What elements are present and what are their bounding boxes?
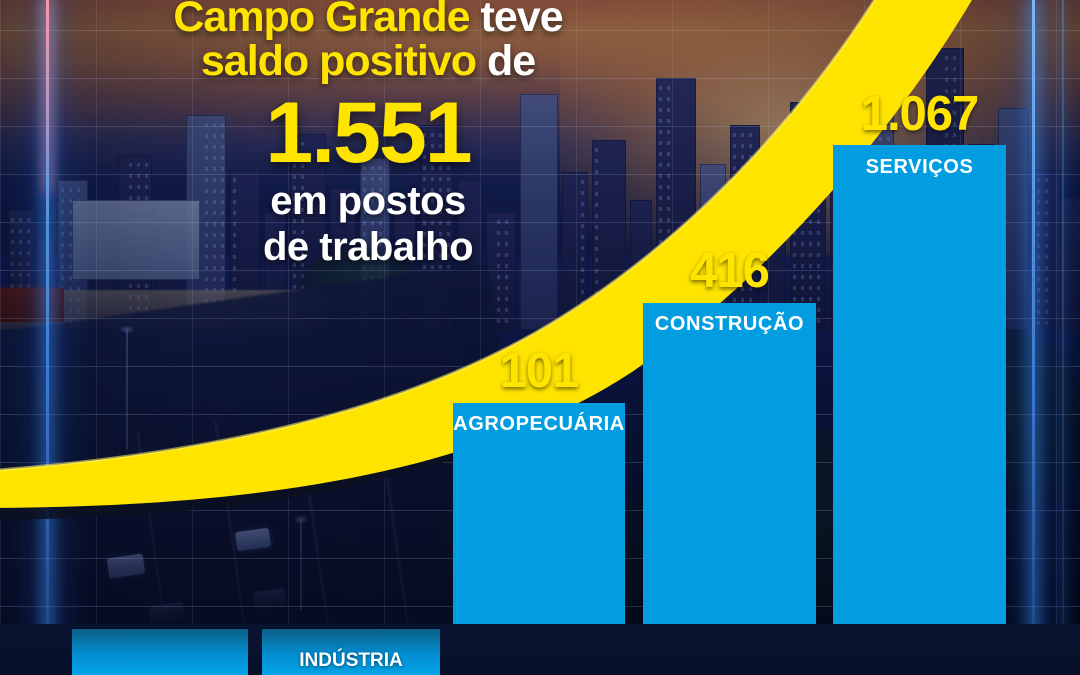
bar-label-construcao: CONSTRUÇÃO — [643, 313, 816, 336]
headline-line-1: Campo Grande teve — [118, 0, 618, 40]
headline-subline-2: de trabalho — [118, 226, 618, 268]
bar-value-servicos: 1.067 — [833, 86, 1006, 142]
headline-line-2-tail: de — [487, 37, 535, 85]
next-slide-bar-1 — [72, 629, 248, 675]
headline-positive-balance: saldo positivo — [201, 37, 476, 85]
bar-label-agropecuaria: AGROPECUÁRIA — [453, 413, 625, 436]
scanline-left — [46, 0, 49, 675]
gridline-vertical — [1056, 0, 1057, 624]
bar-construcao — [643, 303, 816, 624]
headline-total-number: 1.551 — [118, 90, 618, 176]
gridline-vertical — [0, 0, 1, 624]
headline-city-name: Campo Grande — [173, 0, 469, 41]
bar-value-agropecuaria: 101 — [453, 343, 625, 399]
bar-label-servicos: SERVIÇOS — [833, 156, 1006, 179]
headline-block: Campo Grande teve saldo positivo de 1.55… — [118, 0, 618, 269]
scanline-soft-right — [1062, 0, 1064, 675]
next-slide-peek: INDÚSTRIA — [0, 624, 1080, 675]
headline-line-2: saldo positivo de — [118, 40, 618, 84]
bar-servicos — [833, 145, 1006, 624]
headline-subline-1: em postos — [118, 180, 618, 222]
headline-line-1-tail: teve — [481, 0, 563, 41]
bar-value-construcao: 416 — [643, 243, 816, 299]
next-slide-bar-label-industria: INDÚSTRIA — [262, 650, 440, 672]
gridline-vertical — [96, 0, 97, 624]
scanline-right — [1032, 0, 1035, 675]
infographic-canvas: AGROPECUÁRIA 101 CONSTRUÇÃO 416 SERVIÇOS… — [0, 0, 1080, 675]
bar-agropecuaria — [453, 403, 625, 624]
